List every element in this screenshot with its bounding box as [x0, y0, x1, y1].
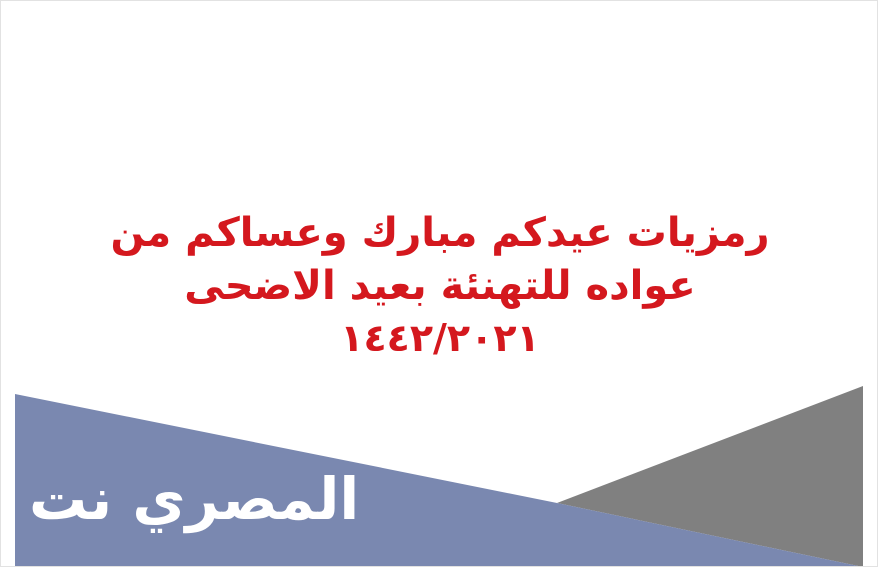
greeting-line-1: رمزيات عيدكم مبارك وعساكم من	[1, 207, 878, 260]
gray-triangle	[557, 386, 863, 567]
greeting-date-line: ١٤٤٢/٢٠٢١	[1, 313, 878, 363]
greeting-text-block: رمزيات عيدكم مبارك وعساكم من عواده للتهن…	[1, 207, 878, 363]
greeting-card: رمزيات عيدكم مبارك وعساكم من عواده للتهن…	[0, 0, 878, 567]
greeting-line-2: عواده للتهنئة بعيد الاضحى	[1, 260, 878, 313]
site-logo-watermark: المصري نت	[29, 463, 359, 535]
